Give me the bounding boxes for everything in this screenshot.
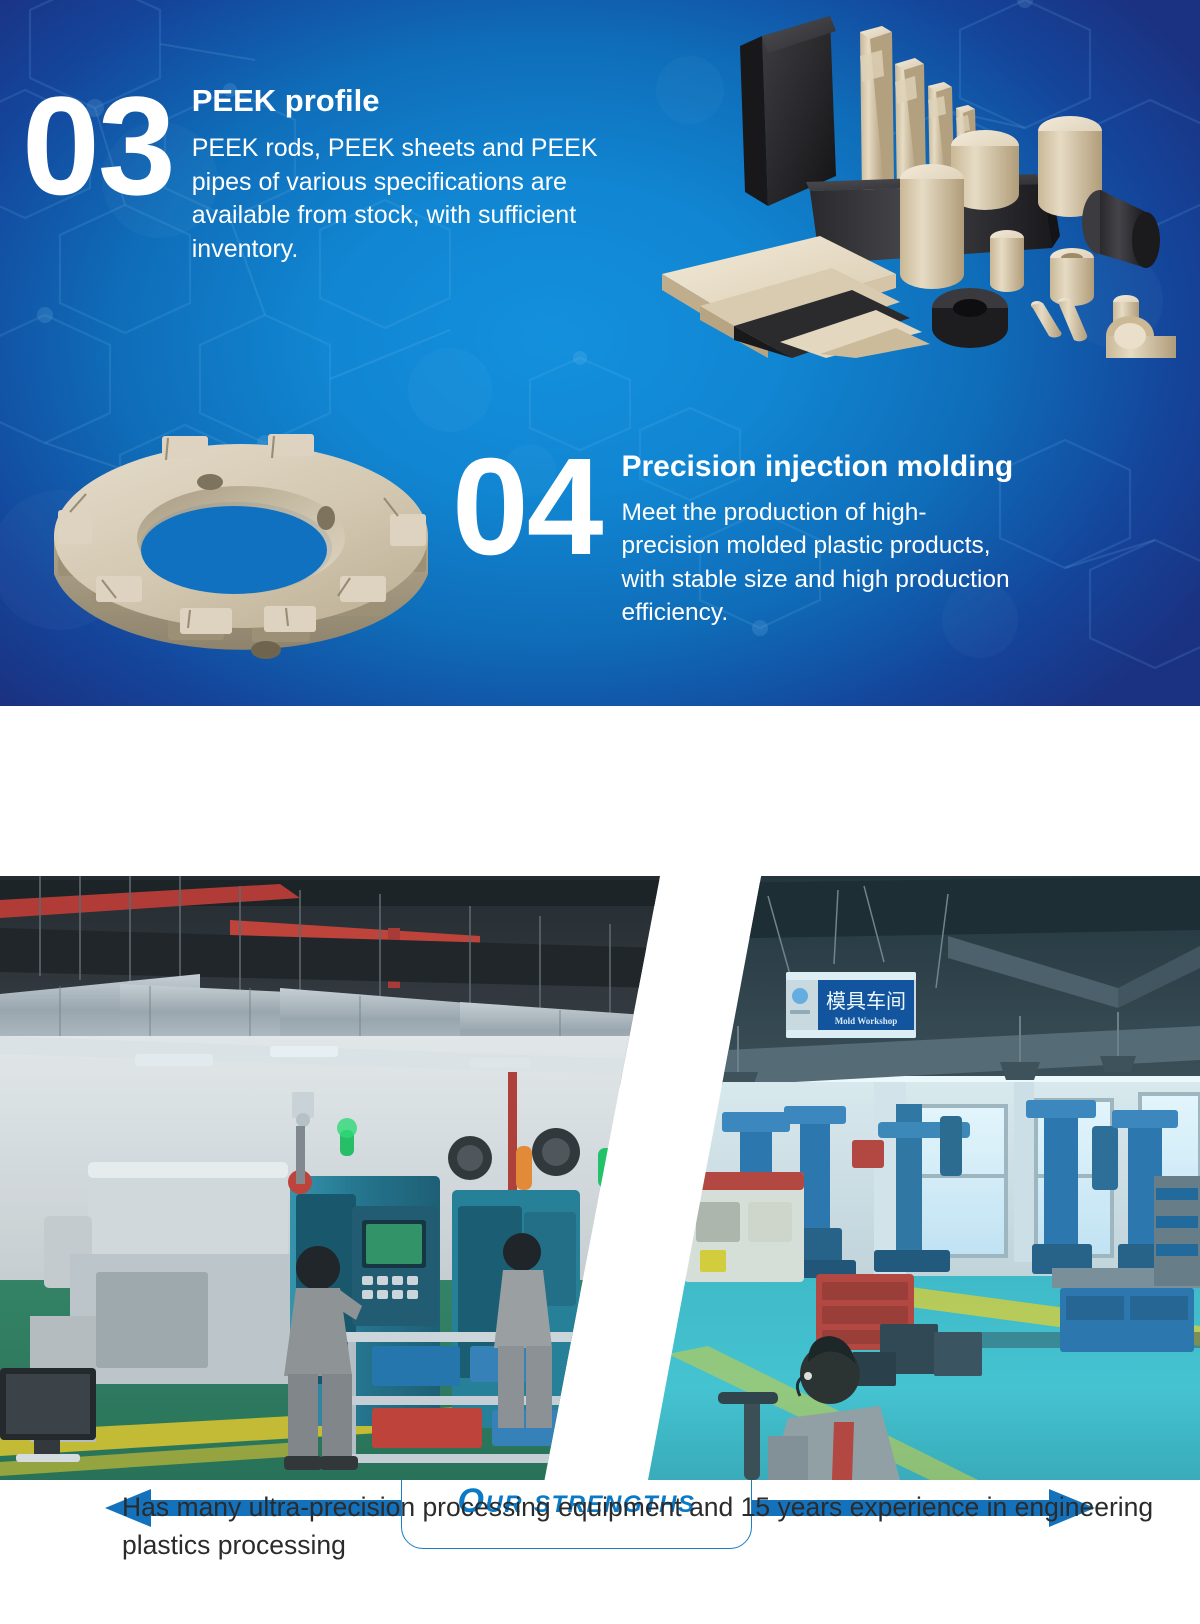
feature-03: 03 PEEK profile PEEK rods, PEEK sheets a…	[22, 78, 682, 266]
feature-03-number: 03	[22, 82, 174, 266]
gallery-caption-text: Has many ultra-precision processing equi…	[0, 1488, 1200, 1565]
feature-04-number: 04	[452, 444, 602, 629]
peek-rods-sheets-pipes-photo	[660, 6, 1200, 358]
tan-cylinder-tall-front	[900, 164, 964, 289]
black-tube	[1082, 190, 1160, 268]
feature-04-body: Meet the production of high-precision mo…	[622, 496, 1022, 629]
mold-workshop-photo: 模具车间 Mold Workshop	[648, 876, 1200, 1480]
feature-03-title: PEEK profile	[192, 84, 622, 118]
strengths-divider: Our strengths	[0, 706, 1200, 872]
black-block-large	[740, 16, 836, 206]
tan-tube-bore	[1050, 248, 1094, 306]
peek-gear-ring-photo	[40, 398, 442, 680]
gallery-caption: Has many ultra-precision processing equi…	[0, 1488, 1200, 1565]
peek-capabilities-page: 03 PEEK profile PEEK rods, PEEK sheets a…	[0, 0, 1200, 1624]
tan-cylinder-small	[990, 230, 1024, 292]
cnc-machining-workshop-photo	[0, 876, 660, 1480]
tan-tube-large	[1106, 316, 1176, 358]
feature-03-body: PEEK rods, PEEK sheets and PEEK pipes of…	[192, 132, 622, 266]
hero-blue-panel: 03 PEEK profile PEEK rods, PEEK sheets a…	[0, 0, 1200, 706]
gear-top-face	[54, 434, 428, 659]
black-ring-washer	[932, 288, 1008, 348]
feature-04: 04 Precision injection molding Meet the …	[452, 442, 1152, 629]
feature-04-title: Precision injection molding	[622, 450, 1022, 484]
workshop-photo-gallery: 模具车间 Mold Workshop	[0, 876, 1200, 1480]
